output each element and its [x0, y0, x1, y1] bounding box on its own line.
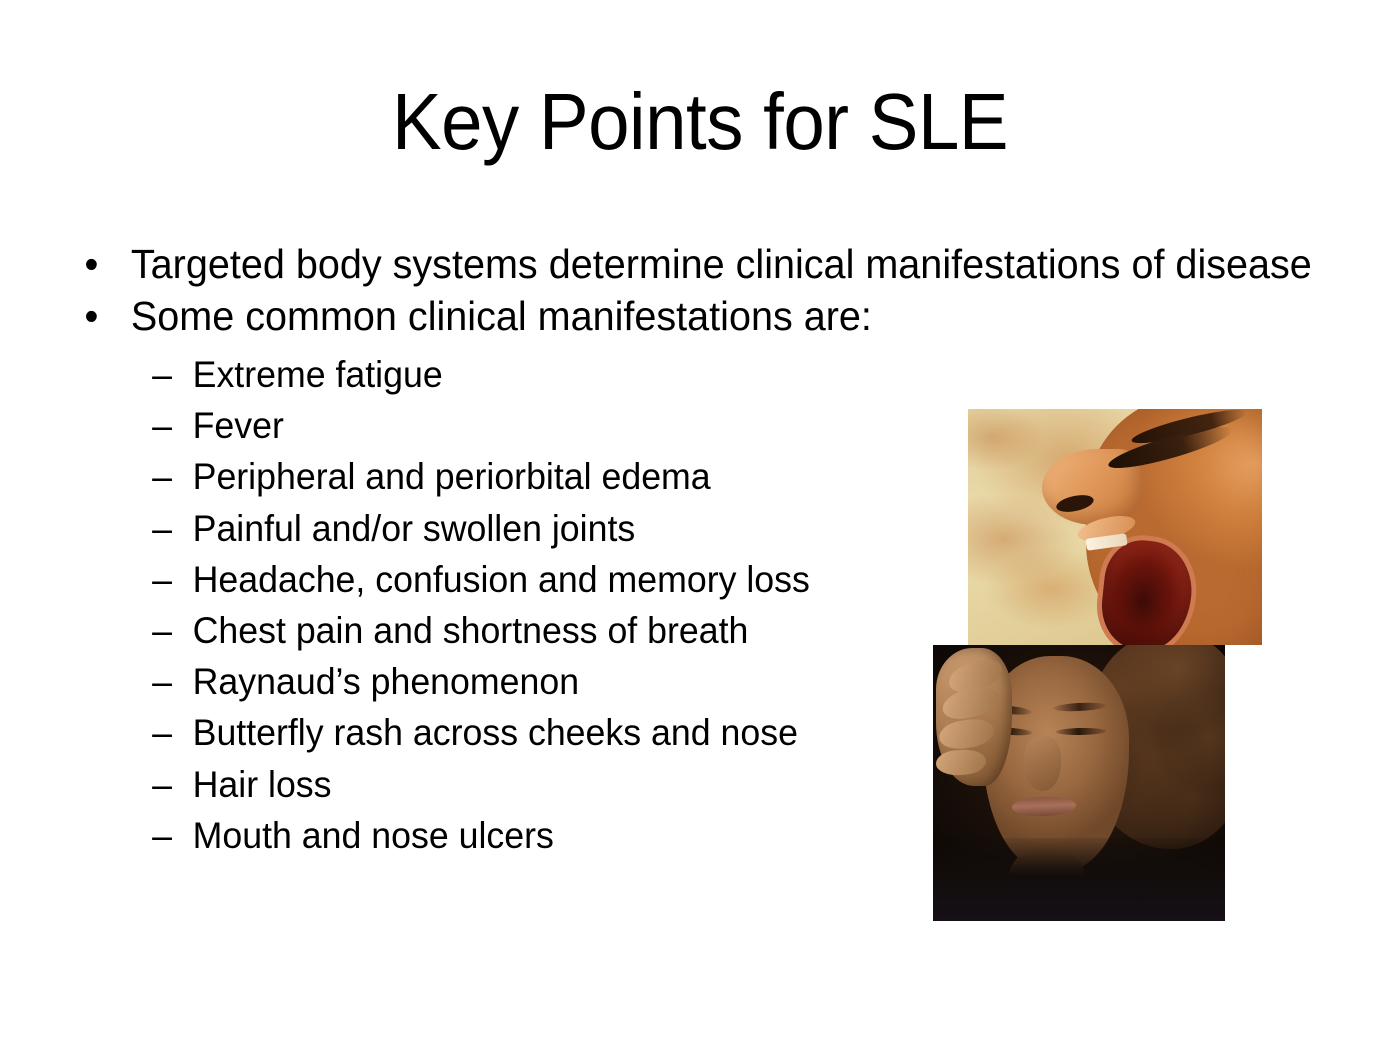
dash-marker-icon: –: [152, 810, 172, 861]
sub-bullet-text: Painful and/or swollen joints: [193, 508, 636, 549]
sub-bullet-text: Raynaud’s phenomenon: [193, 661, 579, 702]
dash-marker-icon: –: [152, 707, 172, 758]
bullet-marker-icon: •: [85, 242, 99, 288]
sub-bullet-text: Butterfly rash across cheeks and nose: [193, 712, 798, 753]
dash-marker-icon: –: [152, 503, 172, 554]
sub-bullet-text: Mouth and nose ulcers: [193, 815, 554, 856]
bullet-marker-icon: •: [85, 294, 99, 340]
sub-bullet-text: Chest pain and shortness of breath: [193, 610, 749, 651]
dash-marker-icon: –: [152, 451, 172, 502]
sub-bullet-text: Peripheral and periorbital edema: [193, 456, 711, 497]
sub-bullet-item: – Extreme fatigue: [72, 349, 1276, 400]
bullet-text: Targeted body systems determine clinical…: [131, 242, 1376, 288]
screaming-face-photo: [968, 409, 1262, 645]
shoulder-shape: [933, 838, 1225, 921]
sub-bullet-text: Extreme fatigue: [193, 354, 443, 395]
slide-title: Key Points for SLE: [49, 82, 1351, 162]
dash-marker-icon: –: [152, 554, 172, 605]
slide-canvas: Key Points for SLE • Targeted body syste…: [0, 0, 1400, 1050]
dash-marker-icon: –: [152, 759, 172, 810]
dash-marker-icon: –: [152, 656, 172, 707]
sub-bullet-text: Fever: [193, 405, 284, 446]
bullet-item: • Targeted body systems determine clinic…: [72, 242, 1376, 288]
dash-marker-icon: –: [152, 605, 172, 656]
dash-marker-icon: –: [152, 349, 172, 400]
sub-bullet-text: Headache, confusion and memory loss: [193, 559, 810, 600]
bullet-text: Some common clinical manifestations are:: [131, 294, 1376, 340]
bullet-item: • Some common clinical manifestations ar…: [72, 294, 1376, 340]
sub-bullet-text: Hair loss: [193, 764, 332, 805]
headache-woman-photo: [933, 645, 1225, 921]
dash-marker-icon: –: [152, 400, 172, 451]
